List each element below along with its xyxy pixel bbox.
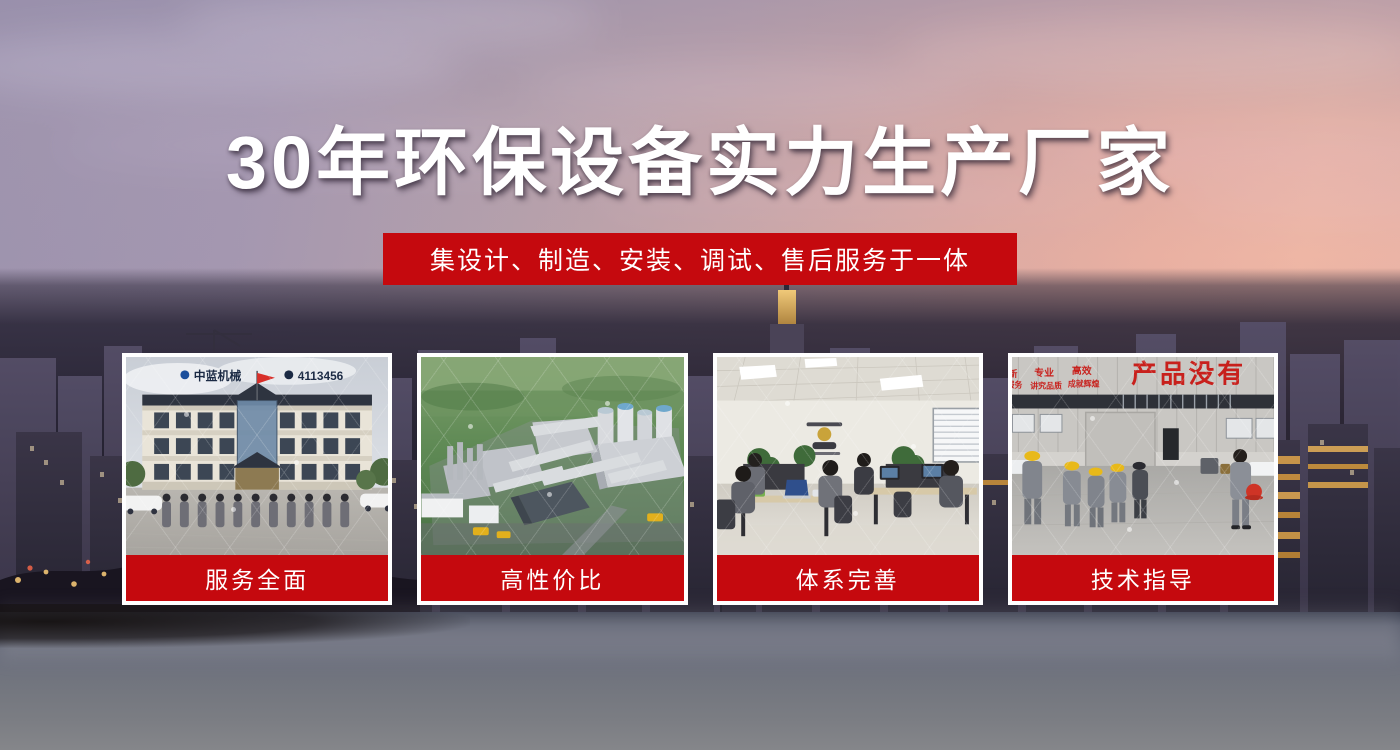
feature-card[interactable]: 中蓝机械 4113456 xyxy=(122,353,392,605)
subtitle-banner: 集设计、制造、安装、调试、售后服务于一体 xyxy=(383,233,1017,285)
building-sign-phone: 4113456 xyxy=(298,369,344,383)
building-sign-text: 中蓝机械 xyxy=(194,369,242,383)
svg-text:专业: 专业 xyxy=(1034,366,1054,379)
subtitle-text: 集设计、制造、安装、调试、售后服务于一体 xyxy=(430,241,970,277)
factory-slogan-text: 产品没有 xyxy=(1131,360,1246,389)
office-interior-photo xyxy=(717,357,979,555)
feature-card[interactable]: 高性价比 xyxy=(417,353,687,605)
page-title: 30年环保设备实力生产厂家 xyxy=(0,126,1400,200)
svg-text:讲究品质: 讲究品质 xyxy=(1030,381,1062,391)
svg-text:高效: 高效 xyxy=(1072,364,1092,377)
card-label: 体系完善 xyxy=(717,555,979,601)
company-building-photo: 中蓝机械 4113456 xyxy=(126,357,388,555)
feature-card[interactable]: 产品没有 新 服务 专业 讲究品质 高效 成就辉煌 xyxy=(1008,353,1278,605)
aerial-plant-photo xyxy=(421,357,683,555)
svg-text:成就辉煌: 成就辉煌 xyxy=(1068,379,1100,389)
card-label: 技术指导 xyxy=(1012,555,1274,601)
banner-stage: 30年环保设备实力生产厂家 集设计、制造、安装、调试、售后服务于一体 xyxy=(0,0,1400,750)
river-shoreline-shadow xyxy=(0,604,470,648)
feature-card-row: 中蓝机械 4113456 xyxy=(122,353,1278,605)
card-label: 服务全面 xyxy=(126,555,388,601)
svg-text:服务: 服务 xyxy=(1012,380,1022,390)
svg-text:新: 新 xyxy=(1012,368,1017,379)
feature-card[interactable]: 体系完善 xyxy=(713,353,983,605)
workers-training-photo: 产品没有 新 服务 专业 讲究品质 高效 成就辉煌 xyxy=(1012,357,1274,555)
card-label: 高性价比 xyxy=(421,555,683,601)
